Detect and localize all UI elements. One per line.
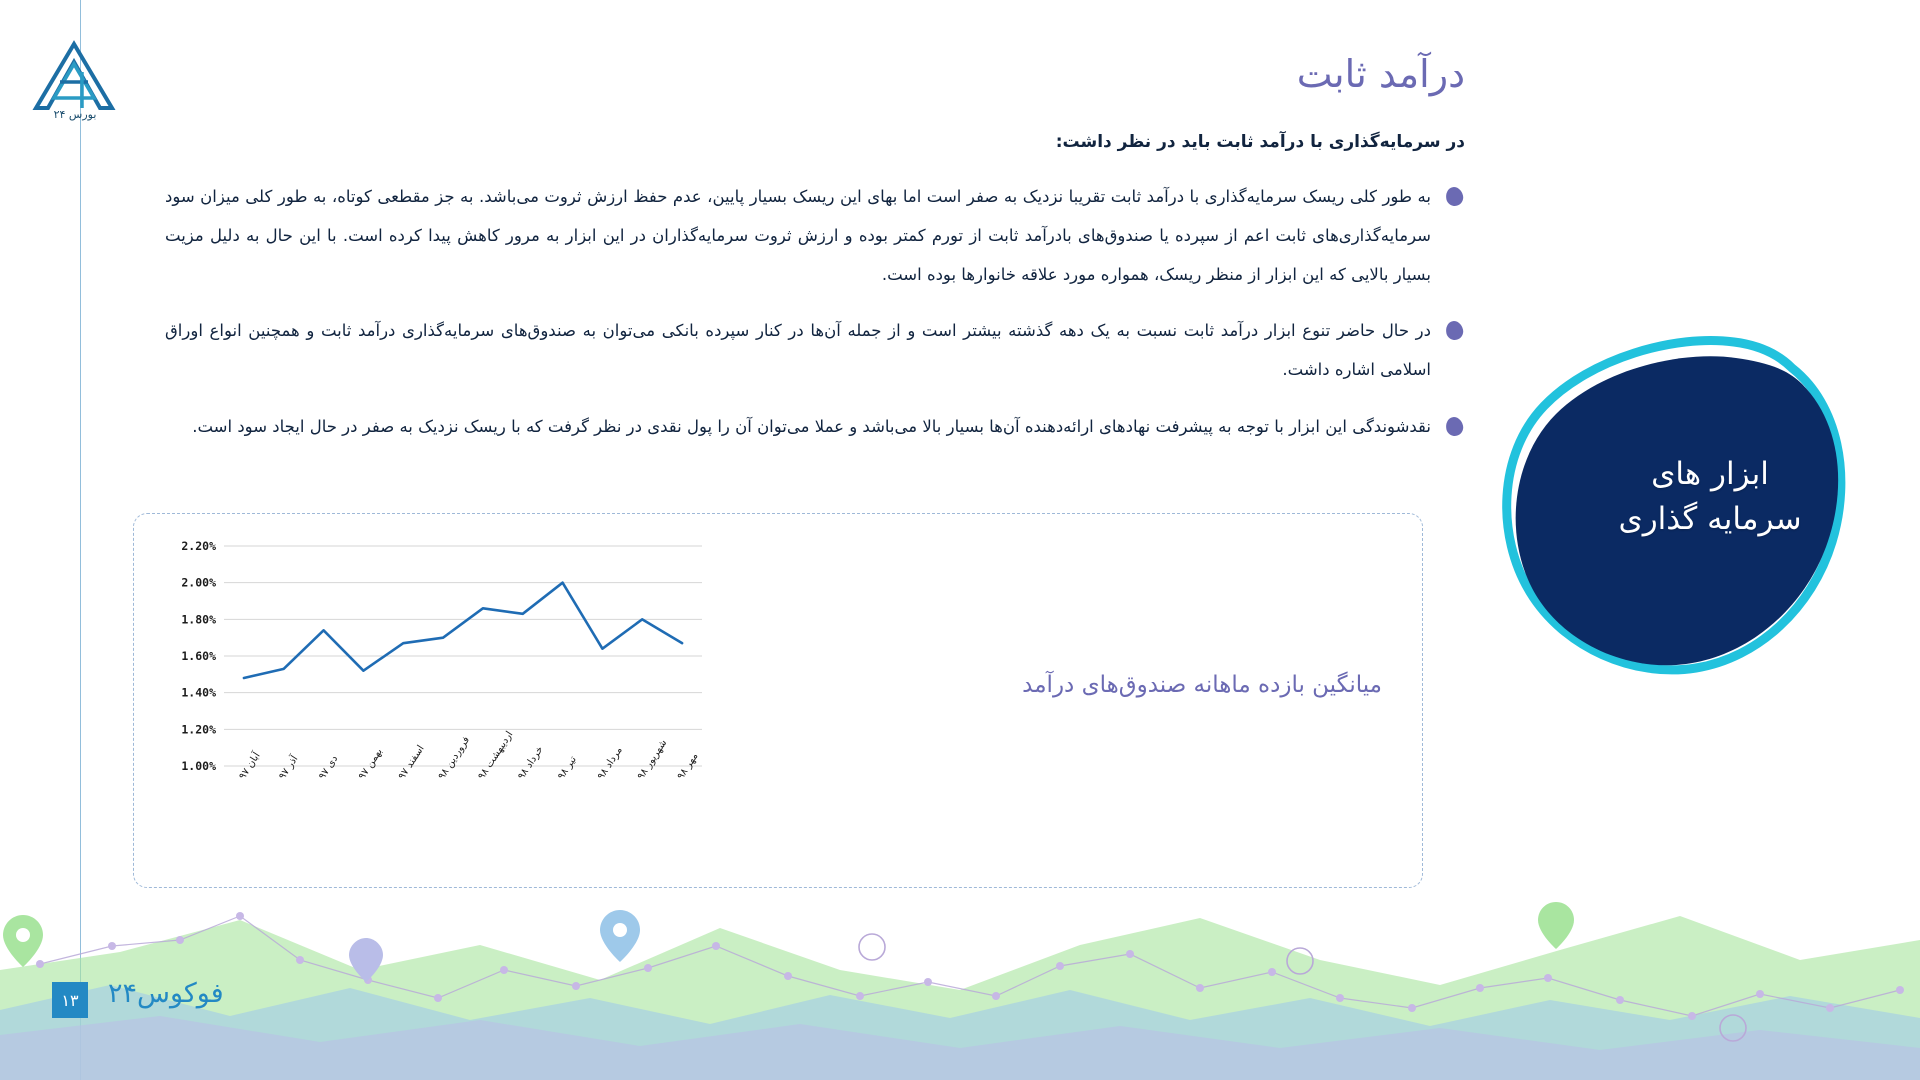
y-axis-tick-label: 2.20% <box>181 539 216 553</box>
x-axis-tick-label: دی ۹۷ <box>317 754 341 782</box>
bullet-marker-icon <box>1444 320 1465 342</box>
x-axis-tick-label: اردیبهشت ۹۸ <box>476 729 515 781</box>
chart-caption: میانگین بازده ماهانه صندوق‌های درآمد <box>1022 672 1382 698</box>
x-axis-tick-label: تیر ۹۸ <box>556 754 579 781</box>
callout-label: ابزار های سرمایه گذاری <box>1560 452 1860 542</box>
footer-decoration <box>0 820 1920 1080</box>
line-chart: 2.20%2.00%1.80%1.60%1.40%1.20%1.00%آبان … <box>166 534 706 864</box>
callout-label-line2: سرمایه گذاری <box>1560 497 1860 542</box>
x-axis-tick-label: آذر ۹۷ <box>275 752 301 782</box>
x-axis-tick-label: آبان ۹۷ <box>236 748 264 781</box>
x-axis-tick-label: فروردین ۹۸ <box>436 735 472 782</box>
chart-series-line <box>244 583 682 678</box>
list-item: در حال حاضر تنوع ابزار درآمد ثابت نسبت ب… <box>165 312 1465 390</box>
callout-label-line1: ابزار های <box>1560 452 1860 497</box>
x-axis-tick-label: اسفند ۹۷ <box>397 743 427 781</box>
bullet-marker-icon <box>1444 185 1465 207</box>
list-item: به طور کلی ریسک سرمایه‌گذاری با درآمد ثا… <box>165 178 1465 294</box>
y-axis-tick-label: 1.60% <box>181 649 216 663</box>
y-axis-tick-label: 2.00% <box>181 576 216 590</box>
y-axis-tick-label: 1.00% <box>181 759 216 773</box>
bullet-text: نقدشوندگی این ابزار با توجه به پیشرفت نه… <box>165 408 1431 447</box>
bullet-marker-icon <box>1444 415 1465 437</box>
x-axis-tick-label: شهریور ۹۸ <box>636 738 670 782</box>
bullet-text: در حال حاضر تنوع ابزار درآمد ثابت نسبت ب… <box>165 312 1431 390</box>
y-axis-tick-label: 1.80% <box>181 612 216 626</box>
x-axis-tick-label: بهمن ۹۷ <box>357 747 385 782</box>
section-subtitle: در سرمایه‌گذاری با درآمد ثابت باید در نظ… <box>1056 132 1465 152</box>
list-item: نقدشوندگی این ابزار با توجه به پیشرفت نه… <box>165 408 1465 447</box>
y-axis-tick-label: 1.40% <box>181 686 216 700</box>
page-title: درآمد ثابت <box>1297 52 1465 96</box>
bullet-text: به طور کلی ریسک سرمایه‌گذاری با درآمد ثا… <box>165 178 1431 294</box>
x-axis-tick-label: مرداد ۹۸ <box>596 745 625 782</box>
bullet-list: به طور کلی ریسک سرمایه‌گذاری با درآمد ثا… <box>165 178 1465 465</box>
footer-brand: فوکوس۲۴ <box>108 978 224 1009</box>
page-number-badge: ۱۳ <box>52 982 88 1018</box>
logo-caption: بورس ۲۴ <box>30 108 120 121</box>
x-axis-tick-label: خرداد ۹۸ <box>516 744 546 781</box>
bourse24-logo <box>30 38 120 118</box>
y-axis-tick-label: 1.20% <box>181 722 216 736</box>
